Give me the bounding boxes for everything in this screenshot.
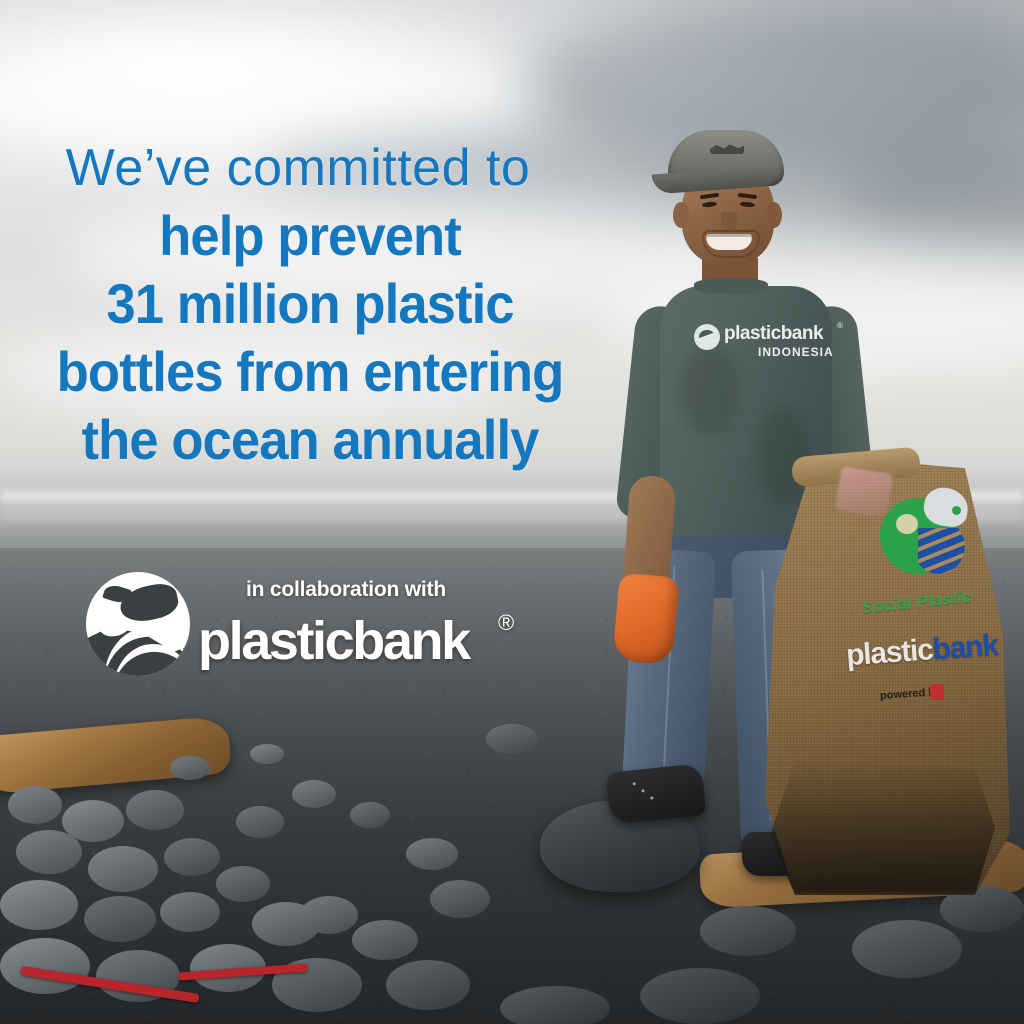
pebble [300, 896, 358, 934]
pebble [292, 780, 336, 808]
poster-canvas: plasticbank ® INDONESIA Social Plas [0, 0, 1024, 1024]
lips [702, 230, 760, 258]
sack-dirt-shading [760, 760, 1010, 895]
sack-powered-by-mark-icon [929, 683, 945, 700]
headline-block: We’ve committed to help prevent 31 milli… [0, 142, 620, 468]
boot-lace [650, 796, 653, 799]
sack-logo-icon [880, 488, 972, 580]
sack-logo-blue-wave [918, 528, 970, 574]
pebble [406, 838, 458, 870]
shirt-registered-icon: ® [837, 322, 843, 330]
left-glove [612, 573, 679, 666]
headline-line-1: We’ve committed to [0, 142, 620, 194]
headline-line-5: the ocean annually [19, 412, 602, 468]
shirt-country-text: INDONESIA [758, 346, 834, 358]
right-ear [766, 202, 782, 228]
plasticbank-globe-wave-logo-icon [86, 572, 190, 676]
pebble [486, 724, 538, 754]
headline-line-4: bottles from entering [19, 344, 602, 400]
pebble [0, 938, 90, 994]
shirt-logo-icon [694, 324, 720, 350]
sack-logo-green-dot [896, 514, 918, 534]
pebble [352, 920, 418, 960]
pebble [170, 756, 210, 780]
pebble [430, 880, 490, 918]
headline-line-2: help prevent [19, 208, 602, 264]
pebble [8, 786, 62, 824]
sack-brand-part1: plastic [845, 633, 934, 672]
pebble [500, 986, 610, 1024]
pebble [216, 866, 270, 902]
nose [721, 212, 737, 230]
boot-lace [641, 789, 644, 792]
plasticbank-wordmark: plasticbank [198, 610, 469, 672]
registered-trademark-icon: ® [498, 610, 514, 636]
collaboration-label: in collaboration with [246, 578, 446, 602]
pebble [164, 838, 220, 876]
left-boot [606, 763, 707, 825]
sack-brand-part2: bank [931, 629, 998, 666]
pebble [16, 830, 82, 874]
pebble [88, 846, 158, 892]
shirt-brand-text: plasticbank [724, 324, 823, 343]
headline-line-3: 31 million plastic [19, 276, 602, 332]
pebble [250, 744, 284, 764]
pebble [0, 880, 78, 930]
shirt-logo: plasticbank ® INDONESIA [694, 320, 844, 374]
pebble [386, 960, 470, 1010]
pebble [640, 968, 760, 1024]
left-ear [673, 202, 689, 228]
shirt-collar [694, 278, 768, 294]
boot-lace [633, 782, 636, 785]
pebble [126, 790, 184, 830]
logo-lockup: in collaboration with plasticbank ® [86, 566, 566, 684]
pebble [350, 802, 390, 828]
pebble [84, 896, 156, 942]
pebble [852, 920, 962, 978]
pebble [160, 892, 220, 932]
sack-logo-eye [952, 506, 961, 515]
pebble [236, 806, 284, 838]
